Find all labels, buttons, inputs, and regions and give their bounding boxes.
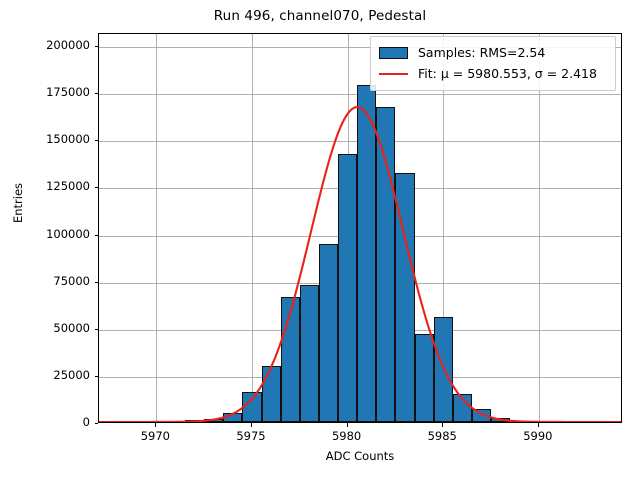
x-tick-label: 5980 — [317, 429, 377, 443]
x-axis-tick — [251, 423, 252, 427]
legend-line-icon — [379, 73, 408, 75]
y-axis-tick — [95, 235, 99, 236]
legend-item-samples: Samples: RMS=2.54 — [379, 42, 607, 63]
y-axis-tick — [95, 282, 99, 283]
x-axis-tick — [155, 423, 156, 427]
page-title: Run 496, channel070, Pedestal — [0, 8, 640, 24]
y-axis-tick — [95, 423, 99, 424]
plot-area — [98, 33, 622, 423]
y-tick-label: 125000 — [28, 179, 90, 193]
y-tick-label: 0 — [28, 415, 90, 429]
x-axis-tick — [538, 423, 539, 427]
y-axis-tick — [95, 93, 99, 94]
x-axis-tick — [442, 423, 443, 427]
y-axis-label: Entries — [11, 123, 25, 283]
x-axis-label: ADC Counts — [98, 449, 622, 463]
y-axis-tick — [95, 187, 99, 188]
x-tick-label: 5970 — [125, 429, 185, 443]
y-axis-tick — [95, 46, 99, 47]
y-tick-label: 100000 — [28, 227, 90, 241]
histogram-figure: Run 496, channel070, Pedestal 5970597559… — [0, 0, 640, 480]
legend-label-fit: Fit: μ = 5980.553, σ = 2.418 — [418, 66, 597, 81]
legend: Samples: RMS=2.54 Fit: μ = 5980.553, σ =… — [370, 36, 616, 91]
y-tick-label: 175000 — [28, 85, 90, 99]
y-tick-label: 75000 — [28, 274, 90, 288]
y-tick-label: 150000 — [28, 132, 90, 146]
legend-label-samples: Samples: RMS=2.54 — [418, 45, 545, 60]
y-tick-label: 200000 — [28, 38, 90, 52]
y-axis-tick — [95, 140, 99, 141]
x-tick-label: 5975 — [221, 429, 281, 443]
x-tick-label: 5985 — [412, 429, 472, 443]
y-tick-label: 50000 — [28, 321, 90, 335]
fit-curve — [99, 34, 621, 422]
legend-patch-icon — [379, 47, 408, 59]
legend-item-fit: Fit: μ = 5980.553, σ = 2.418 — [379, 63, 607, 84]
y-axis-tick — [95, 376, 99, 377]
x-tick-label: 5990 — [508, 429, 568, 443]
y-axis-tick — [95, 329, 99, 330]
y-tick-label: 25000 — [28, 368, 90, 382]
x-axis-tick — [347, 423, 348, 427]
